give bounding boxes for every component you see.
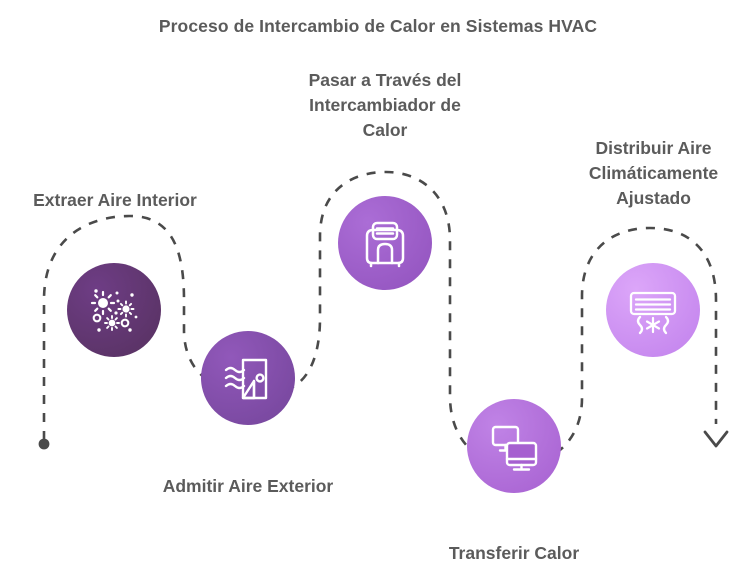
heat-exchanger-icon (359, 216, 411, 270)
step-2-label: Admitir Aire Exterior (133, 474, 363, 499)
step-1-bubble[interactable] (67, 263, 161, 357)
hvac-process-diagram: Proceso de Intercambio de Calor en Siste… (0, 0, 756, 581)
path-start-dot (39, 439, 50, 450)
path-end-arrow (705, 432, 727, 446)
step-3-bubble[interactable] (338, 196, 432, 290)
two-monitors-icon (487, 419, 541, 473)
air-conditioner-icon (625, 283, 681, 337)
step-2-bubble[interactable] (201, 331, 295, 425)
germs-particles-icon (86, 282, 142, 338)
step-5-label: Distribuir Aire Climáticamente Ajustado (541, 136, 756, 211)
door-airflow-icon (221, 351, 275, 405)
step-4-bubble[interactable] (467, 399, 561, 493)
step-1-label: Extraer Aire Interior (0, 188, 230, 213)
step-3-label: Pasar a Través del Intercambiador de Cal… (270, 68, 500, 143)
step-5-bubble[interactable] (606, 263, 700, 357)
step-4-label: Transferir Calor (399, 541, 629, 566)
